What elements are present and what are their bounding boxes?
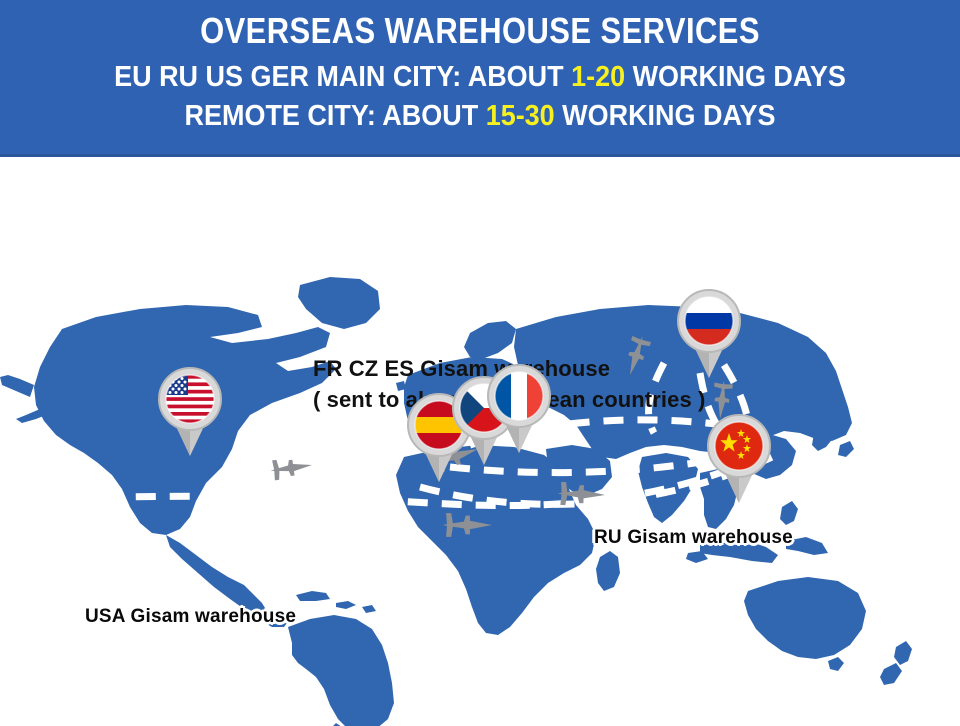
madagascar-shape	[596, 551, 620, 591]
alaska-shape	[0, 375, 34, 397]
flag-ru-pin-icon	[673, 288, 745, 380]
map-pin-france[interactable]	[483, 363, 555, 455]
flag-cn-pin-icon	[703, 413, 775, 505]
eu-callout-line1: FR CZ ES Gisam warehouse	[313, 353, 833, 384]
banner-line1-highlight: 1-20	[571, 61, 625, 93]
banner-title: OVERSEAS WAREHOUSE SERVICES	[67, 0, 893, 49]
banner-shipping-line-remote-city: REMOTE CITY: ABOUT 15-30 WORKING DAYS	[34, 96, 927, 135]
banner-line2-highlight: 15-30	[486, 100, 555, 132]
banner-line2-prefix: REMOTE CITY: ABOUT	[185, 100, 486, 132]
banner-shipping-line-main-city: EU RU US GER MAIN CITY: ABOUT 1-20 WORKI…	[34, 49, 927, 96]
map-pin-russia[interactable]	[673, 288, 745, 380]
eu-callout-line2: ( sent to almost European countries )	[313, 384, 833, 415]
flag-us-pin-icon	[154, 366, 226, 458]
banner-line2-suffix: WORKING DAYS	[555, 100, 776, 132]
label-ru-warehouse: RU Gisam warehouse	[594, 527, 793, 549]
new-zealand-shape	[880, 641, 912, 685]
map-pin-china[interactable]	[703, 413, 775, 505]
plane-icon-4	[269, 455, 313, 481]
australia-shape	[744, 577, 866, 659]
caribbean-islands-shape	[296, 591, 376, 613]
overseas-warehouse-infographic: OVERSEAS WAREHOUSE SERVICES EU RU US GER…	[0, 0, 960, 726]
label-usa-warehouse: USA Gisam warehouse	[85, 606, 296, 628]
banner-line1-prefix: EU RU US GER MAIN CITY: ABOUT	[114, 61, 571, 93]
tasmania-shape	[828, 657, 844, 671]
header-banner: OVERSEAS WAREHOUSE SERVICES EU RU US GER…	[0, 0, 960, 157]
map-pin-united-states[interactable]	[154, 366, 226, 458]
eu-warehouse-callout: FR CZ ES Gisam warehouse ( sent to almos…	[313, 353, 833, 415]
aleutian-islands-shape	[16, 409, 46, 423]
south-america-shape	[288, 615, 394, 726]
philippines-shape	[780, 501, 798, 525]
banner-line1-suffix: WORKING DAYS	[625, 61, 846, 93]
flag-fr-pin-icon	[483, 363, 555, 455]
greenland-shape	[298, 277, 380, 329]
